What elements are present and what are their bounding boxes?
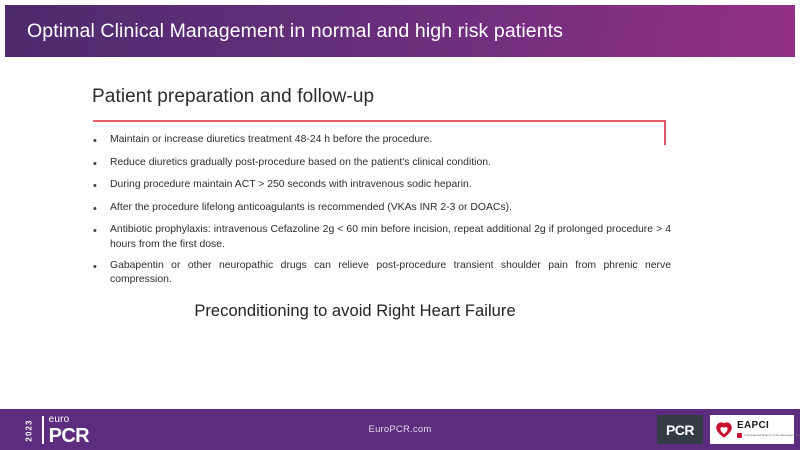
bullet-marker-icon: • (93, 223, 110, 239)
slide: Optimal Clinical Management in normal an… (0, 0, 800, 450)
section-title: Patient preparation and follow-up (92, 86, 374, 108)
list-item-text: Antibiotic prophylaxis: intravenous Cefa… (110, 223, 671, 252)
key-statement: Preconditioning to avoid Right Heart Fai… (0, 302, 710, 321)
heart-icon (715, 421, 733, 439)
logo-pcr-label: PCR (49, 426, 89, 446)
pcr-logo-label: PCR (666, 422, 694, 438)
list-item: • After the procedure lifelong anticoagu… (93, 201, 671, 217)
bullet-marker-icon: • (93, 133, 110, 149)
europcr-brand-logo: 2023 euro PCR (14, 415, 89, 445)
eapci-subtitle-row: A Registered Branch of the European Soci… (737, 433, 800, 438)
eapci-logo-badge: EAPCI A Registered Branch of the Europea… (710, 415, 794, 444)
logo-euro-label: euro (49, 415, 89, 425)
slide-footer: EuroPCR.com 2023 euro PCR PCR EAPCI (0, 409, 800, 450)
eapci-wordmark: EAPCI A Registered Branch of the Europea… (737, 421, 800, 438)
bullet-marker-icon: • (93, 201, 110, 217)
list-item: • Maintain or increase diuretics treatme… (93, 133, 671, 149)
list-item: • Antibiotic prophylaxis: intravenous Ce… (93, 223, 671, 252)
bullet-marker-icon: • (93, 259, 110, 275)
list-item-text: During procedure maintain ACT > 250 seco… (110, 178, 671, 193)
logo-year-label: 2023 (25, 415, 34, 445)
list-item-text: After the procedure lifelong anticoagula… (110, 201, 671, 216)
pcr-logo-badge: PCR (657, 415, 703, 444)
slide-header-title: Optimal Clinical Management in normal an… (5, 20, 563, 43)
eapci-subtitle-label: A Registered Branch of the European Soci… (744, 434, 800, 437)
bullet-marker-icon: • (93, 156, 110, 172)
list-item: • Reduce diuretics gradually post-proced… (93, 156, 671, 172)
eapci-name-label: EAPCI (737, 421, 800, 431)
accent-rule-horizontal (93, 120, 666, 122)
slide-header-banner: Optimal Clinical Management in normal an… (5, 5, 795, 57)
bullet-marker-icon: • (93, 178, 110, 194)
list-item-text: Reduce diuretics gradually post-procedur… (110, 156, 671, 171)
list-item: • Gabapentin or other neuropathic drugs … (93, 259, 671, 288)
list-item-text: Gabapentin or other neuropathic drugs ca… (110, 259, 671, 288)
list-item-text: Maintain or increase diuretics treatment… (110, 133, 671, 148)
list-item: • During procedure maintain ACT > 250 se… (93, 178, 671, 194)
partner-logos: PCR EAPCI A Registered Branch of the Eur… (657, 415, 794, 444)
bullet-list: • Maintain or increase diuretics treatme… (93, 133, 671, 294)
esc-mark-icon (737, 433, 742, 438)
logo-divider (42, 416, 44, 444)
logo-wordmark: euro PCR (49, 415, 89, 446)
